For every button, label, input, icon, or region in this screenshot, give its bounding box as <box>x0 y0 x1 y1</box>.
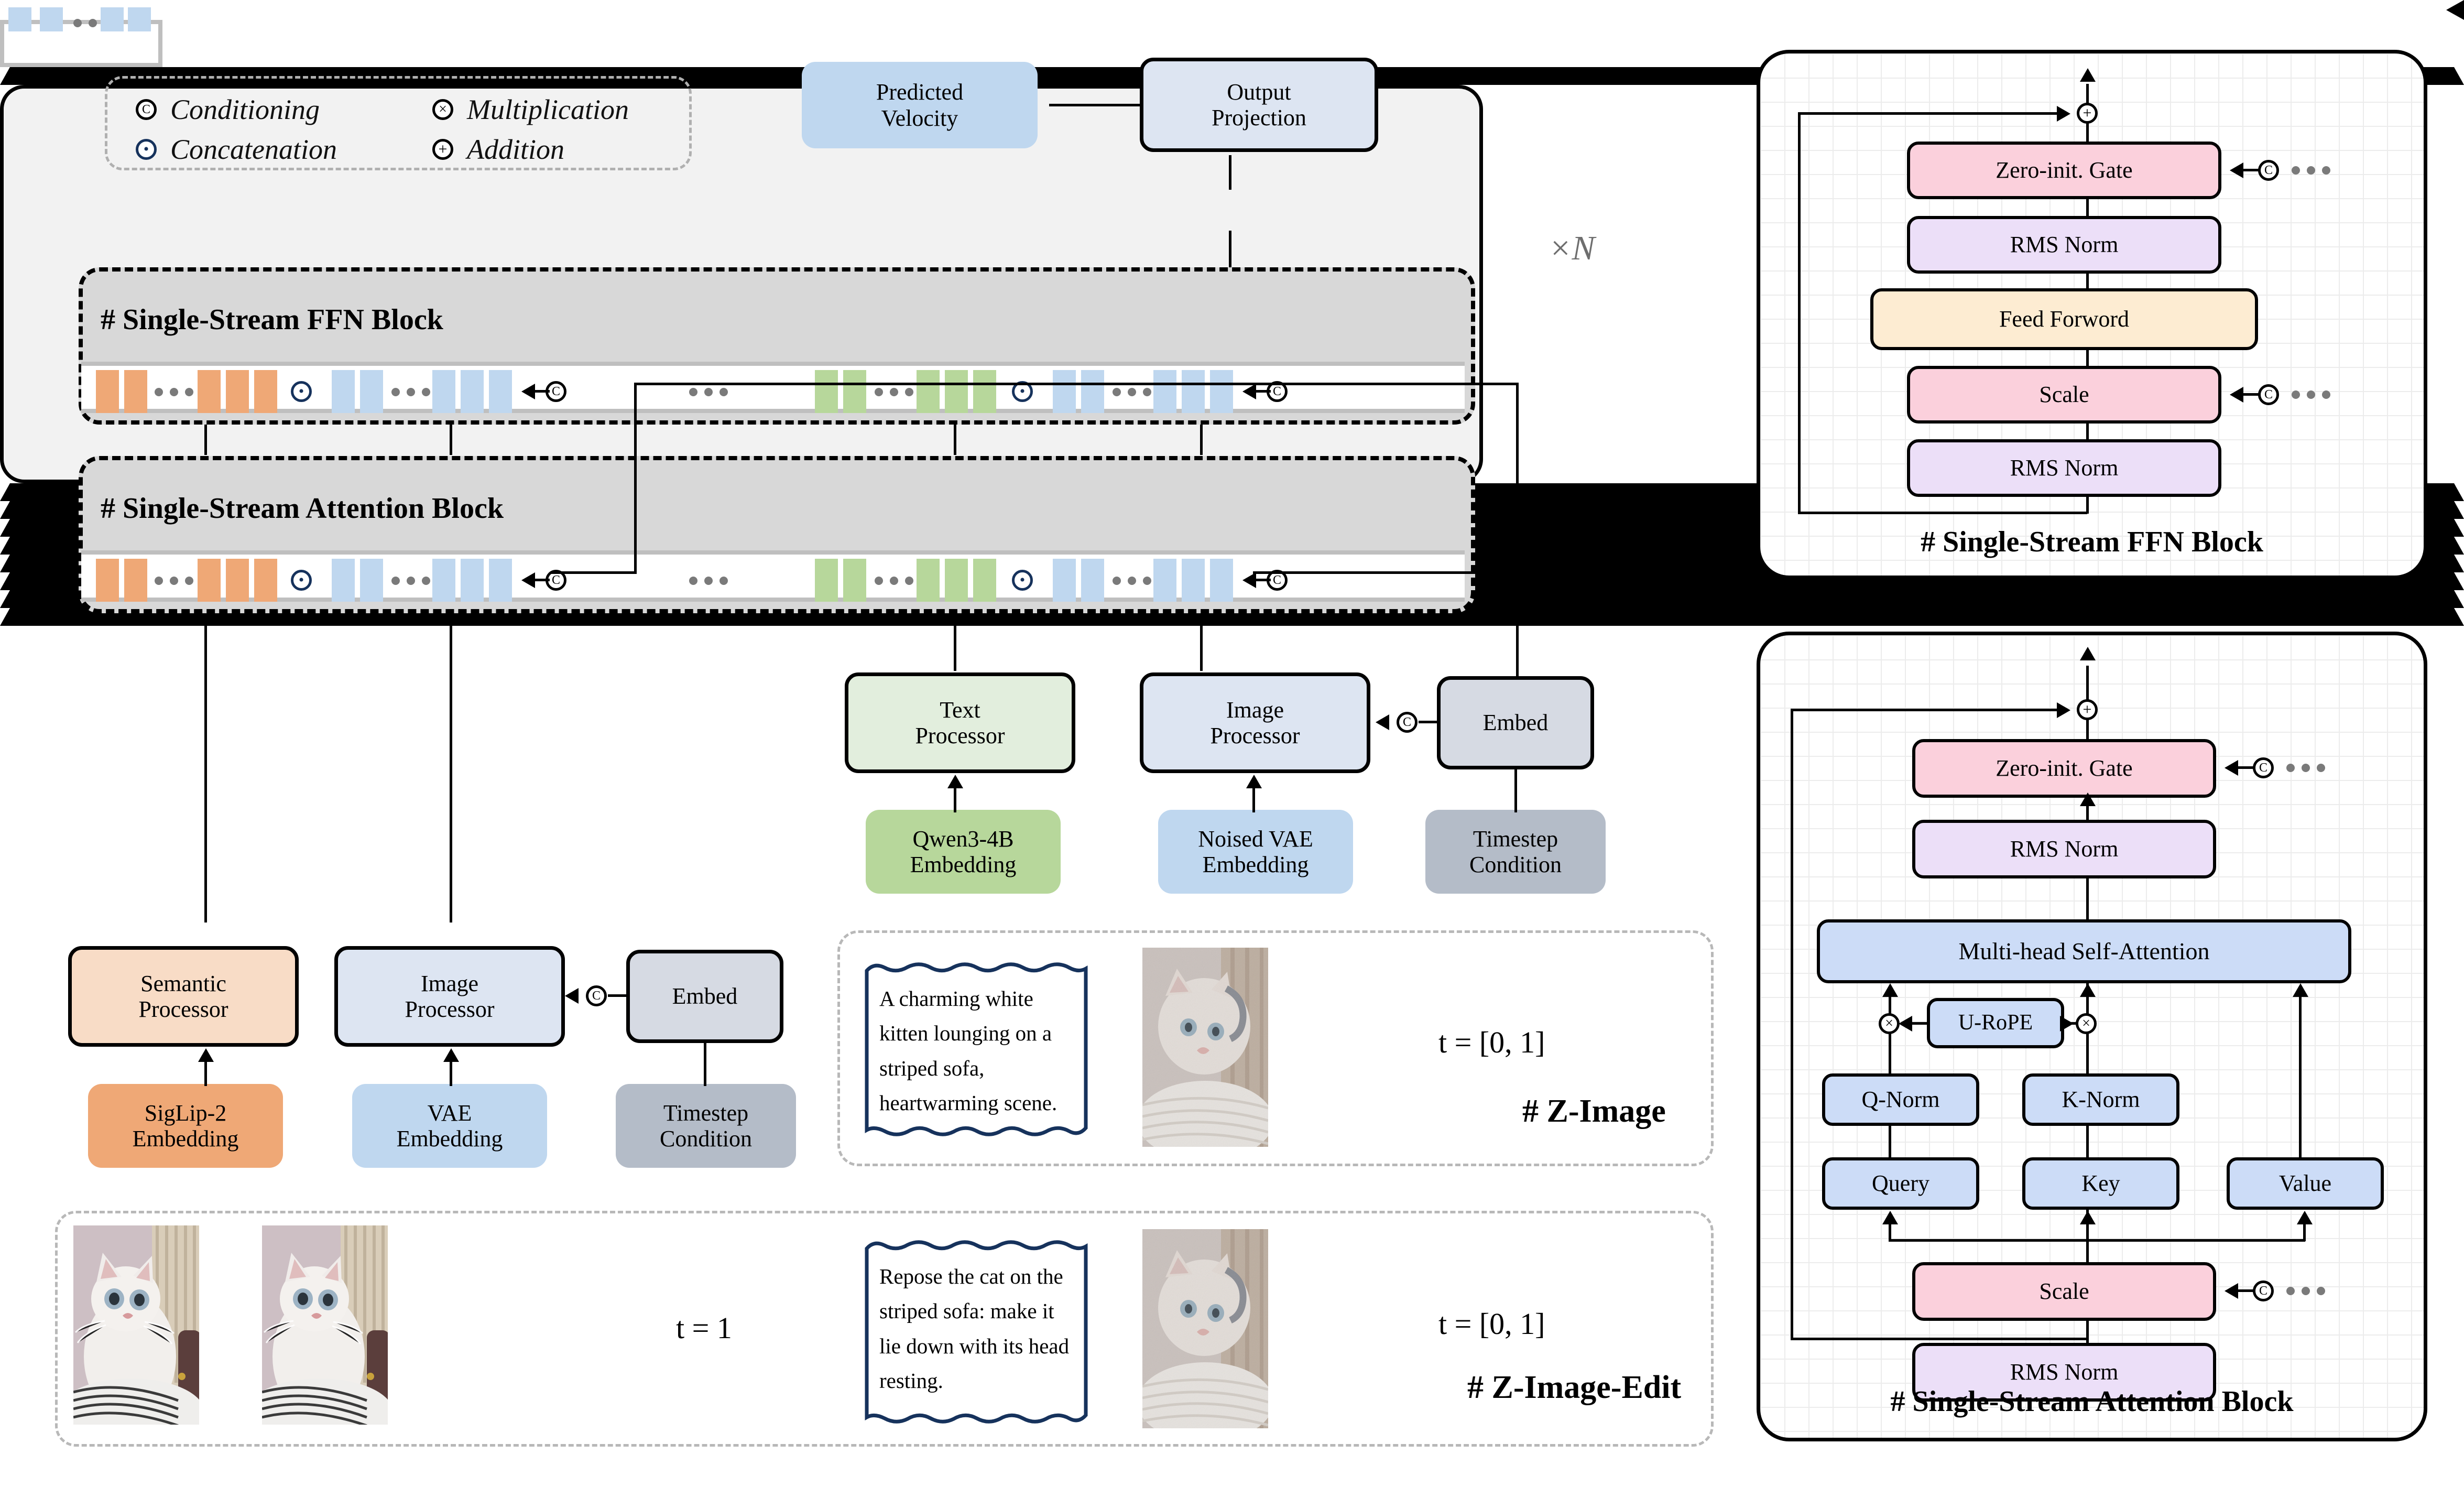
z-image-edit-prompt-text: Repose the cat on the striped sofa: make… <box>879 1259 1075 1398</box>
vae-line2: Embedding <box>397 1126 503 1152</box>
sequence-ellipsis <box>689 577 728 585</box>
z-image-t-value: t = [0, 1] <box>1438 1025 1545 1060</box>
k-norm-box: K-Norm <box>2022 1073 2179 1126</box>
output-token <box>128 7 151 31</box>
semantic-token <box>124 370 147 413</box>
ffn-gate-conditioning-operator: C <box>2258 160 2279 183</box>
image-processor-left-line2: Processor <box>405 996 494 1022</box>
noised-vae-line2: Embedding <box>1203 852 1309 877</box>
conditioning-line-left <box>608 994 629 997</box>
text-token-ellipsis <box>875 388 913 396</box>
attn-add-operator: + <box>2077 699 2098 723</box>
image-token <box>1182 559 1205 602</box>
predicted-velocity-box: Predicted Velocity <box>802 62 1038 148</box>
timestep-mid-line2: Condition <box>1469 852 1562 877</box>
attn-residual-vertical <box>1791 709 1793 1338</box>
flow-line-image-in <box>450 613 452 922</box>
arrow-noisedvae-to-image <box>1246 775 1262 788</box>
qkv-fanout-k <box>2086 1223 2089 1241</box>
flow-line-semantic-in <box>204 613 207 922</box>
arrow-outproj-to-predvel <box>0 0 2464 20</box>
attn-key-to-knorm-line <box>2086 1124 2089 1158</box>
z-image-edit-source-photo-2 <box>262 1225 388 1425</box>
attn-residual-arrow <box>2057 702 2070 718</box>
legend-label-conditioning: Conditioning <box>170 93 320 126</box>
embed-left-label: Embed <box>672 983 738 1009</box>
urope-to-q-arrow <box>1899 1016 1912 1032</box>
output-projection-line1: Output <box>1227 79 1291 105</box>
conditioning-line-2 <box>1253 390 1271 393</box>
image-token <box>360 370 383 413</box>
timestep-condition-box-left: Timestep Condition <box>616 1084 796 1168</box>
attn-arrow-rms-to-gate <box>2080 793 2096 806</box>
conditioning-operator-1: C <box>546 381 566 405</box>
text-token <box>917 559 940 602</box>
text-token <box>945 559 968 602</box>
semantic-token-ellipsis <box>155 577 193 585</box>
arrow-conditioning-left <box>565 988 579 1004</box>
flow-line-outproj-to-predvel <box>1049 104 1143 106</box>
embed-box-left: Embed <box>626 950 783 1043</box>
arrow-vae-to-image <box>443 1048 459 1062</box>
q-multiplication-operator: × <box>1879 1013 1900 1037</box>
concat-operator-4: • <box>1012 570 1033 593</box>
ffn-residual-top <box>1798 112 2060 115</box>
attn-scale-conditioning-operator: C <box>2253 1280 2274 1304</box>
conditioning-operator-mid: C <box>1397 712 1418 735</box>
z-image-edit-t-source: t = 1 <box>676 1310 732 1345</box>
attn-scale-cond-ellipsis <box>2286 1287 2325 1295</box>
text-processor-box: Text Processor <box>845 672 1075 773</box>
timestep-condition-box-mid: Timestep Condition <box>1425 810 1606 894</box>
semantic-processor-line1: Semantic <box>140 971 226 996</box>
image-token <box>1210 559 1233 602</box>
cat-photo-noisy-icon <box>1142 1229 1268 1428</box>
embed-mid-label: Embed <box>1483 710 1549 735</box>
ffn-add-operator: + <box>2077 103 2098 126</box>
image-token <box>489 370 512 413</box>
attn-gate-conditioning-operator: C <box>2253 757 2274 781</box>
image-token <box>461 370 484 413</box>
image-token-ellipsis <box>391 577 430 585</box>
z-image-edit-prompt-card: Repose the cat on the striped sofa: make… <box>864 1237 1089 1426</box>
ffn-scale-conditioning-operator: C <box>2258 384 2279 408</box>
vae-line1: VAE <box>428 1100 472 1126</box>
flow-line-timestep-to-embed-left <box>704 1043 706 1086</box>
image-token <box>432 559 455 602</box>
attn-zero-init-gate-box: Zero-init. Gate <box>1912 739 2216 798</box>
embed-box-mid: Embed <box>1437 676 1594 769</box>
image-processor-box-left: Image Processor <box>334 946 565 1047</box>
image-token <box>461 559 484 602</box>
key-box: Key <box>2022 1157 2179 1210</box>
image-token <box>1182 370 1205 413</box>
legend-item-conditioning: C Conditioning <box>136 93 320 126</box>
repeat-count-label: ×N <box>1549 229 1595 268</box>
siglip-line1: SigLip-2 <box>145 1100 226 1126</box>
ffn-panel-title: # Single-Stream FFN Block <box>1760 525 2424 559</box>
image-token <box>489 559 512 602</box>
legend-label-addition: Addition <box>467 133 564 166</box>
timestep-left-line1: Timestep <box>663 1100 748 1126</box>
conditioning-line-4 <box>1253 579 1271 581</box>
conditioning-drop-left <box>634 383 637 571</box>
attn-residual-top <box>1791 709 2060 711</box>
qkv-fanout-v <box>2303 1223 2306 1241</box>
attn-scale-box: Scale <box>1912 1262 2216 1321</box>
legend-label-concatenation: Concatenation <box>170 133 337 166</box>
output-projection-box: Output Projection <box>1140 58 1378 152</box>
attn-query-to-qnorm-line <box>1889 1124 1891 1158</box>
cat-photo-clean-icon <box>73 1225 199 1425</box>
u-rope-box: U-RoPE <box>1927 998 2064 1048</box>
semantic-token <box>96 370 119 413</box>
cat-photo-noisy-icon <box>1142 948 1268 1147</box>
conditioning-icon: C <box>136 99 157 120</box>
image-token <box>1153 559 1176 602</box>
semantic-token <box>254 370 277 413</box>
arrow-conditioning-mid <box>1376 714 1389 730</box>
flow-line-attn-to-ffn-3 <box>954 425 956 455</box>
conditioning-line-left-attn <box>550 571 637 574</box>
z-image-prompt-text: A charming white kitten lounging on a st… <box>879 981 1075 1121</box>
output-token-strip <box>0 20 162 67</box>
vae-embedding-box: VAE Embedding <box>352 1084 547 1168</box>
semantic-token <box>124 559 147 602</box>
image-token-ellipsis <box>1113 388 1151 396</box>
ffn-gate-cond-ellipsis <box>2292 166 2330 175</box>
text-token <box>973 370 996 413</box>
z-image-prompt-card: A charming white kitten lounging on a st… <box>864 959 1089 1138</box>
conditioning-line-1 <box>532 390 550 393</box>
ffn-token-strip: • C • C <box>81 362 1465 413</box>
image-token <box>332 370 355 413</box>
flow-line-attn-to-ffn-2 <box>450 425 452 455</box>
predicted-velocity-line2: Velocity <box>881 105 958 131</box>
qkv-arrow-q <box>1882 1211 1898 1224</box>
concatenation-icon: • <box>136 139 157 160</box>
legend-item-concatenation: • Concatenation <box>136 133 337 166</box>
flow-line-timestep-to-embed-mid <box>1514 769 1517 812</box>
predicted-velocity-line1: Predicted <box>876 79 963 105</box>
k-multiplication-operator: × <box>2076 1013 2097 1037</box>
image-token <box>332 559 355 602</box>
semantic-token-ellipsis <box>155 388 193 396</box>
qwen-line1: Qwen3-4B <box>912 826 1013 852</box>
ffn-block-panel: + Zero-init. Gate RMS Norm Feed Forword … <box>1757 50 2427 579</box>
text-token-ellipsis <box>875 577 913 585</box>
text-token <box>973 559 996 602</box>
text-token <box>843 559 866 602</box>
image-token <box>1053 559 1076 602</box>
sequence-ellipsis <box>689 388 728 396</box>
arrow-siglip-to-semantic <box>198 1048 214 1062</box>
ffn-zero-init-gate-box: Zero-init. Gate <box>1907 142 2221 199</box>
ffn-residual-arrow <box>2057 106 2070 122</box>
ffn-rms-norm-upper-box: RMS Norm <box>1907 216 2221 274</box>
qkv-fanout-q <box>1889 1223 1891 1241</box>
value-box: Value <box>2227 1157 2384 1210</box>
z-image-edit-t-target: t = [0, 1] <box>1438 1306 1545 1341</box>
attention-panel-title: # Single-Stream Attention Block <box>1760 1385 2424 1418</box>
attention-token-strip: • C • C <box>81 550 1465 602</box>
semantic-processor-box: Semantic Processor <box>68 946 299 1047</box>
flow-line-text-in <box>954 613 956 671</box>
semantic-token <box>226 370 249 413</box>
concat-operator-1: • <box>291 381 312 405</box>
conditioning-bus-ffn <box>634 383 1519 385</box>
qwen3-embedding-box: Qwen3-4B Embedding <box>866 810 1061 894</box>
legend-item-addition: + Addition <box>432 133 564 166</box>
concat-operator-3: • <box>291 570 312 593</box>
q-norm-box: Q-Norm <box>1822 1073 1979 1126</box>
ffn-block-title: # Single-Stream FFN Block <box>101 303 443 337</box>
query-box: Query <box>1822 1157 1979 1210</box>
urope-to-k-arrow <box>2060 1016 2074 1032</box>
attn-q-arrow <box>1882 983 1898 997</box>
text-processor-line1: Text <box>940 697 980 723</box>
attention-block-panel: + Zero-init. Gate RMS Norm Multi-head Se… <box>1757 632 2427 1441</box>
flow-line-noisedvae-in <box>1200 613 1203 671</box>
ffn-feed-forward-box: Feed Forword <box>1870 288 2258 350</box>
legend-item-multiplication: × Multiplication <box>432 93 629 126</box>
output-projection-line2: Projection <box>1212 105 1306 131</box>
semantic-token <box>198 370 221 413</box>
timestep-left-line2: Condition <box>660 1126 752 1152</box>
z-image-edit-tag: # Z-Image-Edit <box>1467 1369 1681 1406</box>
noised-vae-embedding-box: Noised VAE Embedding <box>1158 810 1353 894</box>
conditioning-operator-left: C <box>586 985 607 1009</box>
z-image-tag: # Z-Image <box>1522 1093 1666 1130</box>
text-token <box>843 370 866 413</box>
image-token-ellipsis <box>391 388 430 396</box>
qkv-fanout-line <box>1889 1239 2305 1242</box>
image-token-ellipsis <box>1113 577 1151 585</box>
semantic-token <box>96 559 119 602</box>
ffn-rms-norm-lower-box: RMS Norm <box>1907 439 2221 497</box>
conditioning-bus-vertical <box>1516 383 1519 660</box>
image-token <box>1153 370 1176 413</box>
semantic-token <box>226 559 249 602</box>
attn-k-arrow <box>2080 983 2096 997</box>
attn-gate-cond-ellipsis <box>2286 764 2325 772</box>
flow-line-attn-to-ffn-4 <box>1200 425 1203 455</box>
qkv-arrow-k <box>2080 1211 2096 1224</box>
output-token <box>101 7 124 31</box>
image-token <box>1081 559 1104 602</box>
cat-photo-clean-icon <box>262 1225 388 1425</box>
addition-icon: + <box>432 139 453 160</box>
ffn-scale-box: Scale <box>1907 366 2221 424</box>
attn-v-arrow <box>2293 983 2308 997</box>
flow-line-tokens-to-outproj <box>1229 155 1231 190</box>
conditioning-bus-attn <box>1253 571 1519 574</box>
image-token <box>1081 370 1104 413</box>
image-processor-box-mid: Image Processor <box>1140 672 1370 773</box>
text-token <box>917 370 940 413</box>
qkv-arrow-v <box>2297 1211 2313 1224</box>
attn-rms-norm-upper-box: RMS Norm <box>1912 820 2216 878</box>
siglip-line2: Embedding <box>133 1126 239 1152</box>
image-processor-mid-line1: Image <box>1226 697 1284 723</box>
ffn-output-arrow <box>2080 68 2096 82</box>
output-token <box>8 7 31 31</box>
multiplication-icon: × <box>432 99 453 120</box>
text-token <box>815 559 838 602</box>
image-token <box>1053 370 1076 413</box>
legend-box: C Conditioning × Multiplication • Concat… <box>105 76 692 170</box>
text-token <box>815 370 838 413</box>
z-image-edit-output-photo <box>1142 1229 1268 1428</box>
z-image-edit-source-photo-1 <box>73 1225 199 1425</box>
semantic-token <box>198 559 221 602</box>
attn-output-arrow <box>2080 647 2096 660</box>
image-processor-mid-line2: Processor <box>1210 723 1300 748</box>
flow-line-attn-to-ffn-1 <box>204 425 207 455</box>
siglip-embedding-box: SigLip-2 Embedding <box>88 1084 283 1168</box>
ffn-residual-bottom <box>1798 512 2087 514</box>
ffn-residual-vertical <box>1798 112 1801 512</box>
conditioning-line-3 <box>532 579 550 581</box>
attn-residual-bottom <box>1791 1338 2087 1340</box>
z-image-output-photo <box>1142 948 1268 1147</box>
ffn-scale-cond-ellipsis <box>2292 390 2330 399</box>
text-token <box>945 370 968 413</box>
conditioning-line-mid <box>1419 721 1440 723</box>
image-token <box>432 370 455 413</box>
multi-head-self-attention-box: Multi-head Self-Attention <box>1817 919 2351 983</box>
attention-block-title: # Single-Stream Attention Block <box>101 492 504 525</box>
output-token <box>40 7 63 31</box>
text-processor-line2: Processor <box>915 723 1005 748</box>
arrow-qwen-to-text <box>947 775 963 788</box>
image-token <box>1210 370 1233 413</box>
noised-vae-line1: Noised VAE <box>1198 826 1313 852</box>
qwen-line2: Embedding <box>910 852 1017 877</box>
legend-label-multiplication: Multiplication <box>467 93 629 126</box>
semantic-processor-line2: Processor <box>138 996 228 1022</box>
semantic-token <box>254 559 277 602</box>
image-token <box>360 559 383 602</box>
image-processor-left-line1: Image <box>421 971 478 996</box>
timestep-mid-line1: Timestep <box>1473 826 1558 852</box>
